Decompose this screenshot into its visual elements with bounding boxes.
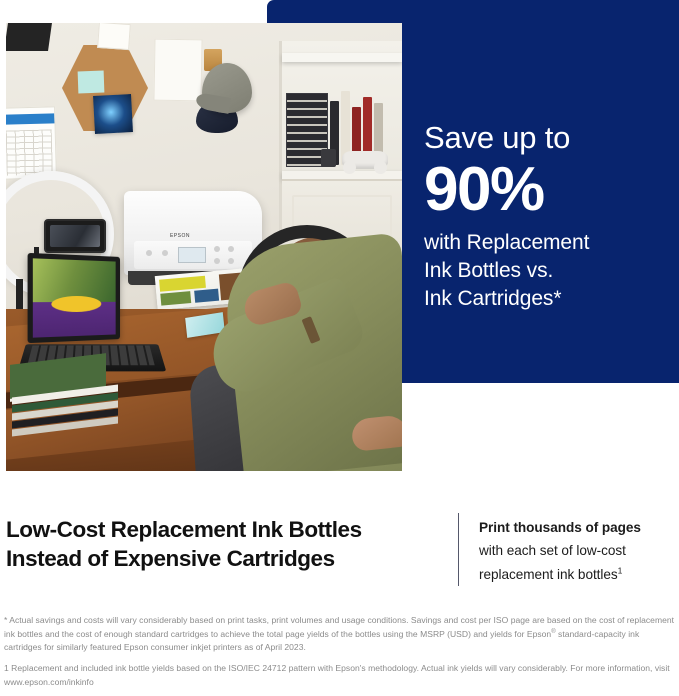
footnote-one: 1 Replacement and included ink bottle yi…: [4, 662, 676, 689]
printer-lcd-icon: [178, 247, 206, 263]
main-headline: Low-Cost Replacement Ink Bottles Instead…: [6, 515, 446, 574]
hero-photo: EPSON: [6, 23, 402, 471]
hero-banner: EPSON: [0, 0, 679, 471]
secondary-headline-line-3: replacement ink bottles1: [479, 563, 675, 586]
photo-schedule-sheet: [6, 106, 57, 179]
photo-laptop-artwork: [33, 258, 116, 337]
photo-printed-photo: [93, 94, 133, 134]
secondary-headline-line-3-text: replacement ink bottles: [479, 567, 618, 582]
photo-wall-paper: [153, 39, 202, 102]
footnote-marker-1: 1: [618, 565, 623, 575]
photo-smartphone: [44, 219, 106, 253]
footnotes-section: * Actual savings and costs will vary con…: [4, 614, 676, 696]
photo-game-controller: [342, 151, 388, 169]
footnote-asterisk: * Actual savings and costs will vary con…: [4, 614, 676, 655]
secondary-headline: Print thousands of pages with each set o…: [479, 516, 675, 586]
photo-pinned-paper: [97, 23, 131, 50]
photo-shelf-top: [282, 53, 402, 62]
headline-vertical-divider: [458, 513, 459, 586]
photo-monitor-corner: [6, 23, 52, 51]
photo-speaker: [321, 149, 336, 167]
printer-brand-label: EPSON: [170, 233, 190, 239]
promo-headline-small: Save up to: [424, 122, 674, 154]
photo-sticky-note: [78, 71, 105, 94]
headline-section: Low-Cost Replacement Ink Bottles Instead…: [0, 505, 679, 597]
promo-sub-line-1: with Replacement: [424, 229, 674, 257]
promo-percentage: 90%: [424, 158, 674, 221]
promo-sub-line-3: Ink Cartridges*: [424, 285, 674, 313]
main-headline-line-1: Low-Cost Replacement Ink Bottles: [6, 515, 446, 544]
photo-person: [222, 171, 402, 471]
secondary-headline-bold: Print thousands of pages: [479, 516, 675, 539]
promo-copy: Save up to 90% with Replacement Ink Bott…: [424, 122, 674, 313]
secondary-headline-line-2: with each set of low-cost: [479, 539, 675, 562]
promo-sub-line-2: Ink Bottles vs.: [424, 257, 674, 285]
photo-laptop-screen: [28, 253, 120, 343]
main-headline-line-2: Instead of Expensive Cartridges: [6, 544, 446, 573]
